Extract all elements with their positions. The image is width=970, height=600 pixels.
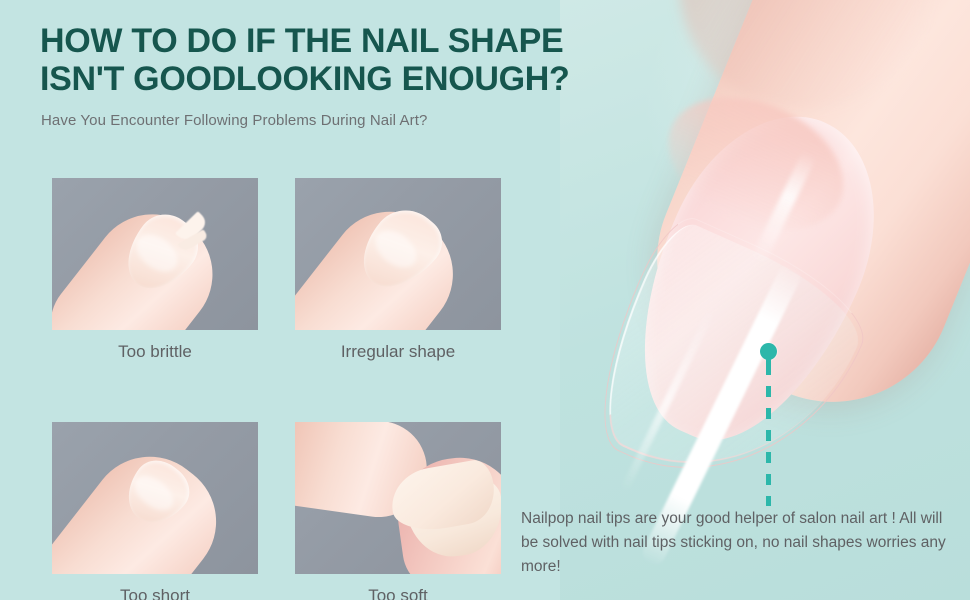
nail-tip-dashed-connector (766, 364, 771, 506)
thumbnail-too-short (52, 422, 258, 574)
problem-grid: Too brittle Irregular shape Too short (52, 178, 502, 600)
thumbnail-too-brittle (52, 178, 258, 330)
problem-caption: Too short (52, 586, 258, 600)
thumbnail-irregular-shape (295, 178, 501, 330)
page-title: HOW TO DO IF THE NAIL SHAPE ISN'T GOODLO… (40, 22, 740, 98)
problem-card-too-soft: Too soft (295, 422, 501, 600)
promo-banner: HOW TO DO IF THE NAIL SHAPE ISN'T GOODLO… (0, 0, 970, 600)
problem-caption: Irregular shape (295, 342, 501, 362)
headline-line-2: ISN'T GOODLOOKING ENOUGH? (40, 60, 569, 98)
problem-caption: Too soft (295, 586, 501, 600)
problem-caption: Too brittle (52, 342, 258, 362)
thumbnail-too-soft (295, 422, 501, 574)
problem-card-too-brittle: Too brittle (52, 178, 258, 362)
problem-row-bottom: Too short Too soft (52, 422, 502, 600)
problem-row-top: Too brittle Irregular shape (52, 178, 502, 362)
problem-card-irregular-shape: Irregular shape (295, 178, 501, 362)
headline-line-1: HOW TO DO IF THE NAIL SHAPE (40, 22, 563, 60)
product-description: Nailpop nail tips are your good helper o… (521, 507, 951, 579)
problem-card-too-short: Too short (52, 422, 258, 600)
page-subtitle: Have You Encounter Following Problems Du… (41, 112, 427, 129)
